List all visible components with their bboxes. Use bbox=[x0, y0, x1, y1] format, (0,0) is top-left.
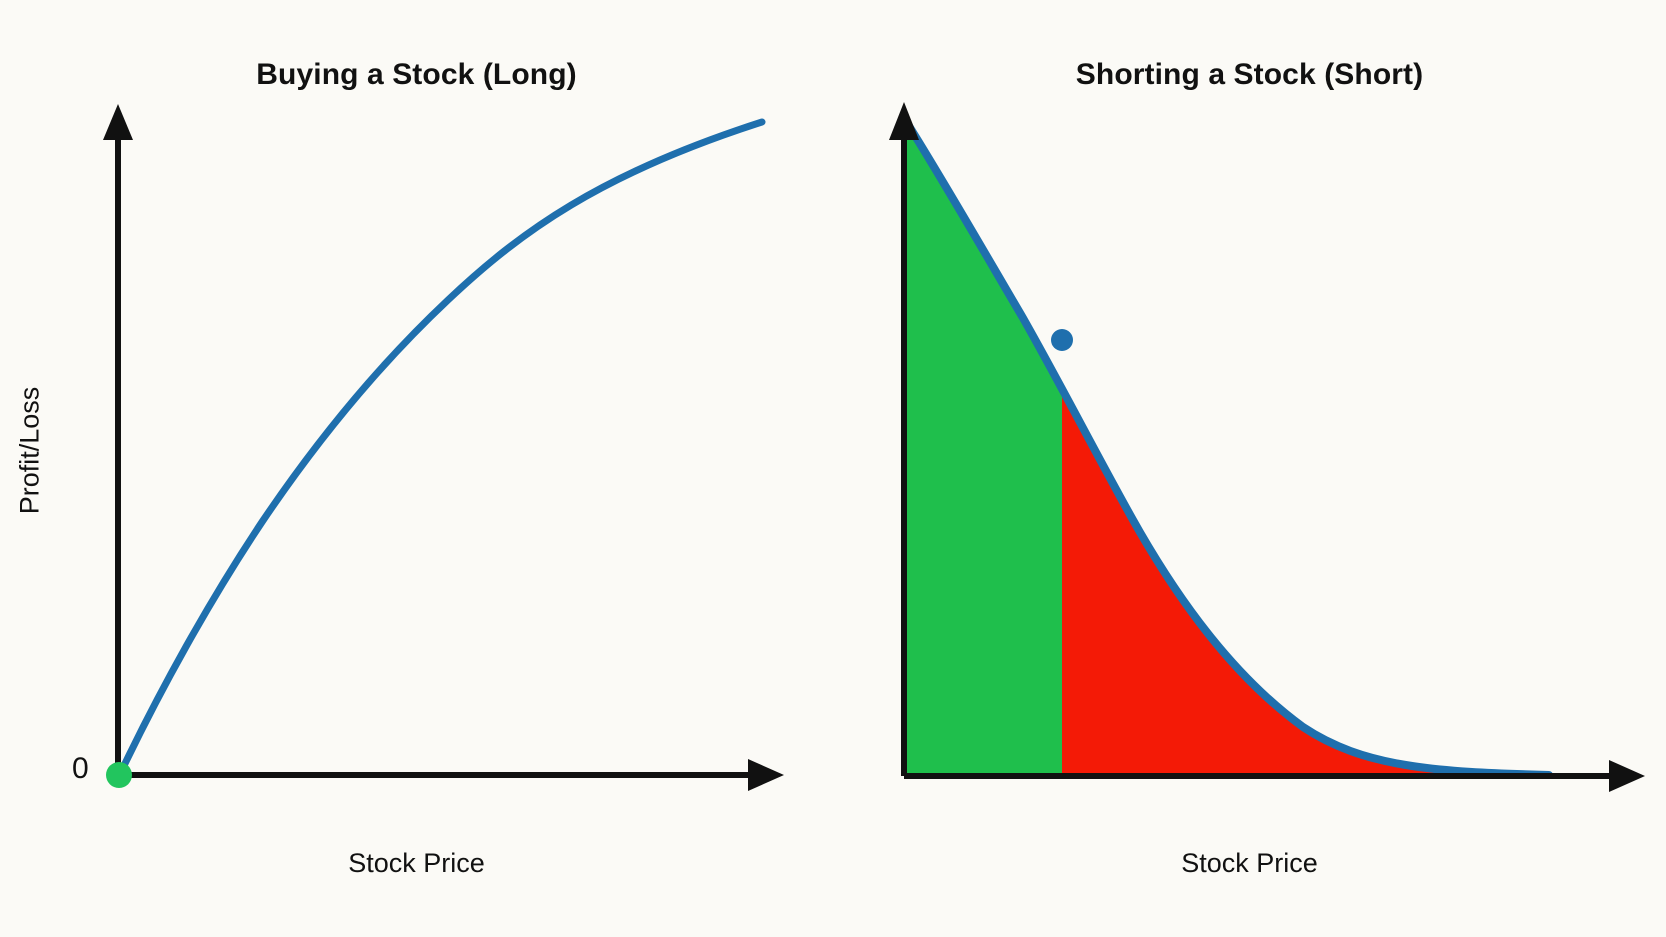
x-axis-label-long: Stock Price bbox=[0, 848, 833, 879]
loss-region-red bbox=[1062, 100, 1562, 776]
x-axis-arrow-icon bbox=[1609, 760, 1645, 792]
x-axis-label-short: Stock Price bbox=[833, 848, 1666, 879]
breakeven-blue-dot bbox=[1051, 329, 1073, 351]
y-axis-arrow-icon bbox=[103, 104, 133, 140]
short-payoff-plot bbox=[833, 0, 1666, 937]
figure-canvas: Buying a Stock (Long) Profit/Loss 0 Stoc… bbox=[0, 0, 1666, 937]
origin-green-dot bbox=[106, 762, 132, 788]
y-axis-arrow-icon bbox=[889, 102, 919, 140]
panel-shorting-a-stock-short: Shorting a Stock (Short) bbox=[833, 0, 1666, 937]
panel-buying-a-stock-long: Buying a Stock (Long) Profit/Loss 0 Stoc… bbox=[0, 0, 833, 937]
long-payoff-curve bbox=[120, 122, 762, 774]
x-axis-arrow-icon bbox=[748, 759, 784, 791]
long-payoff-plot bbox=[0, 0, 833, 937]
profit-region-green bbox=[904, 100, 1062, 776]
